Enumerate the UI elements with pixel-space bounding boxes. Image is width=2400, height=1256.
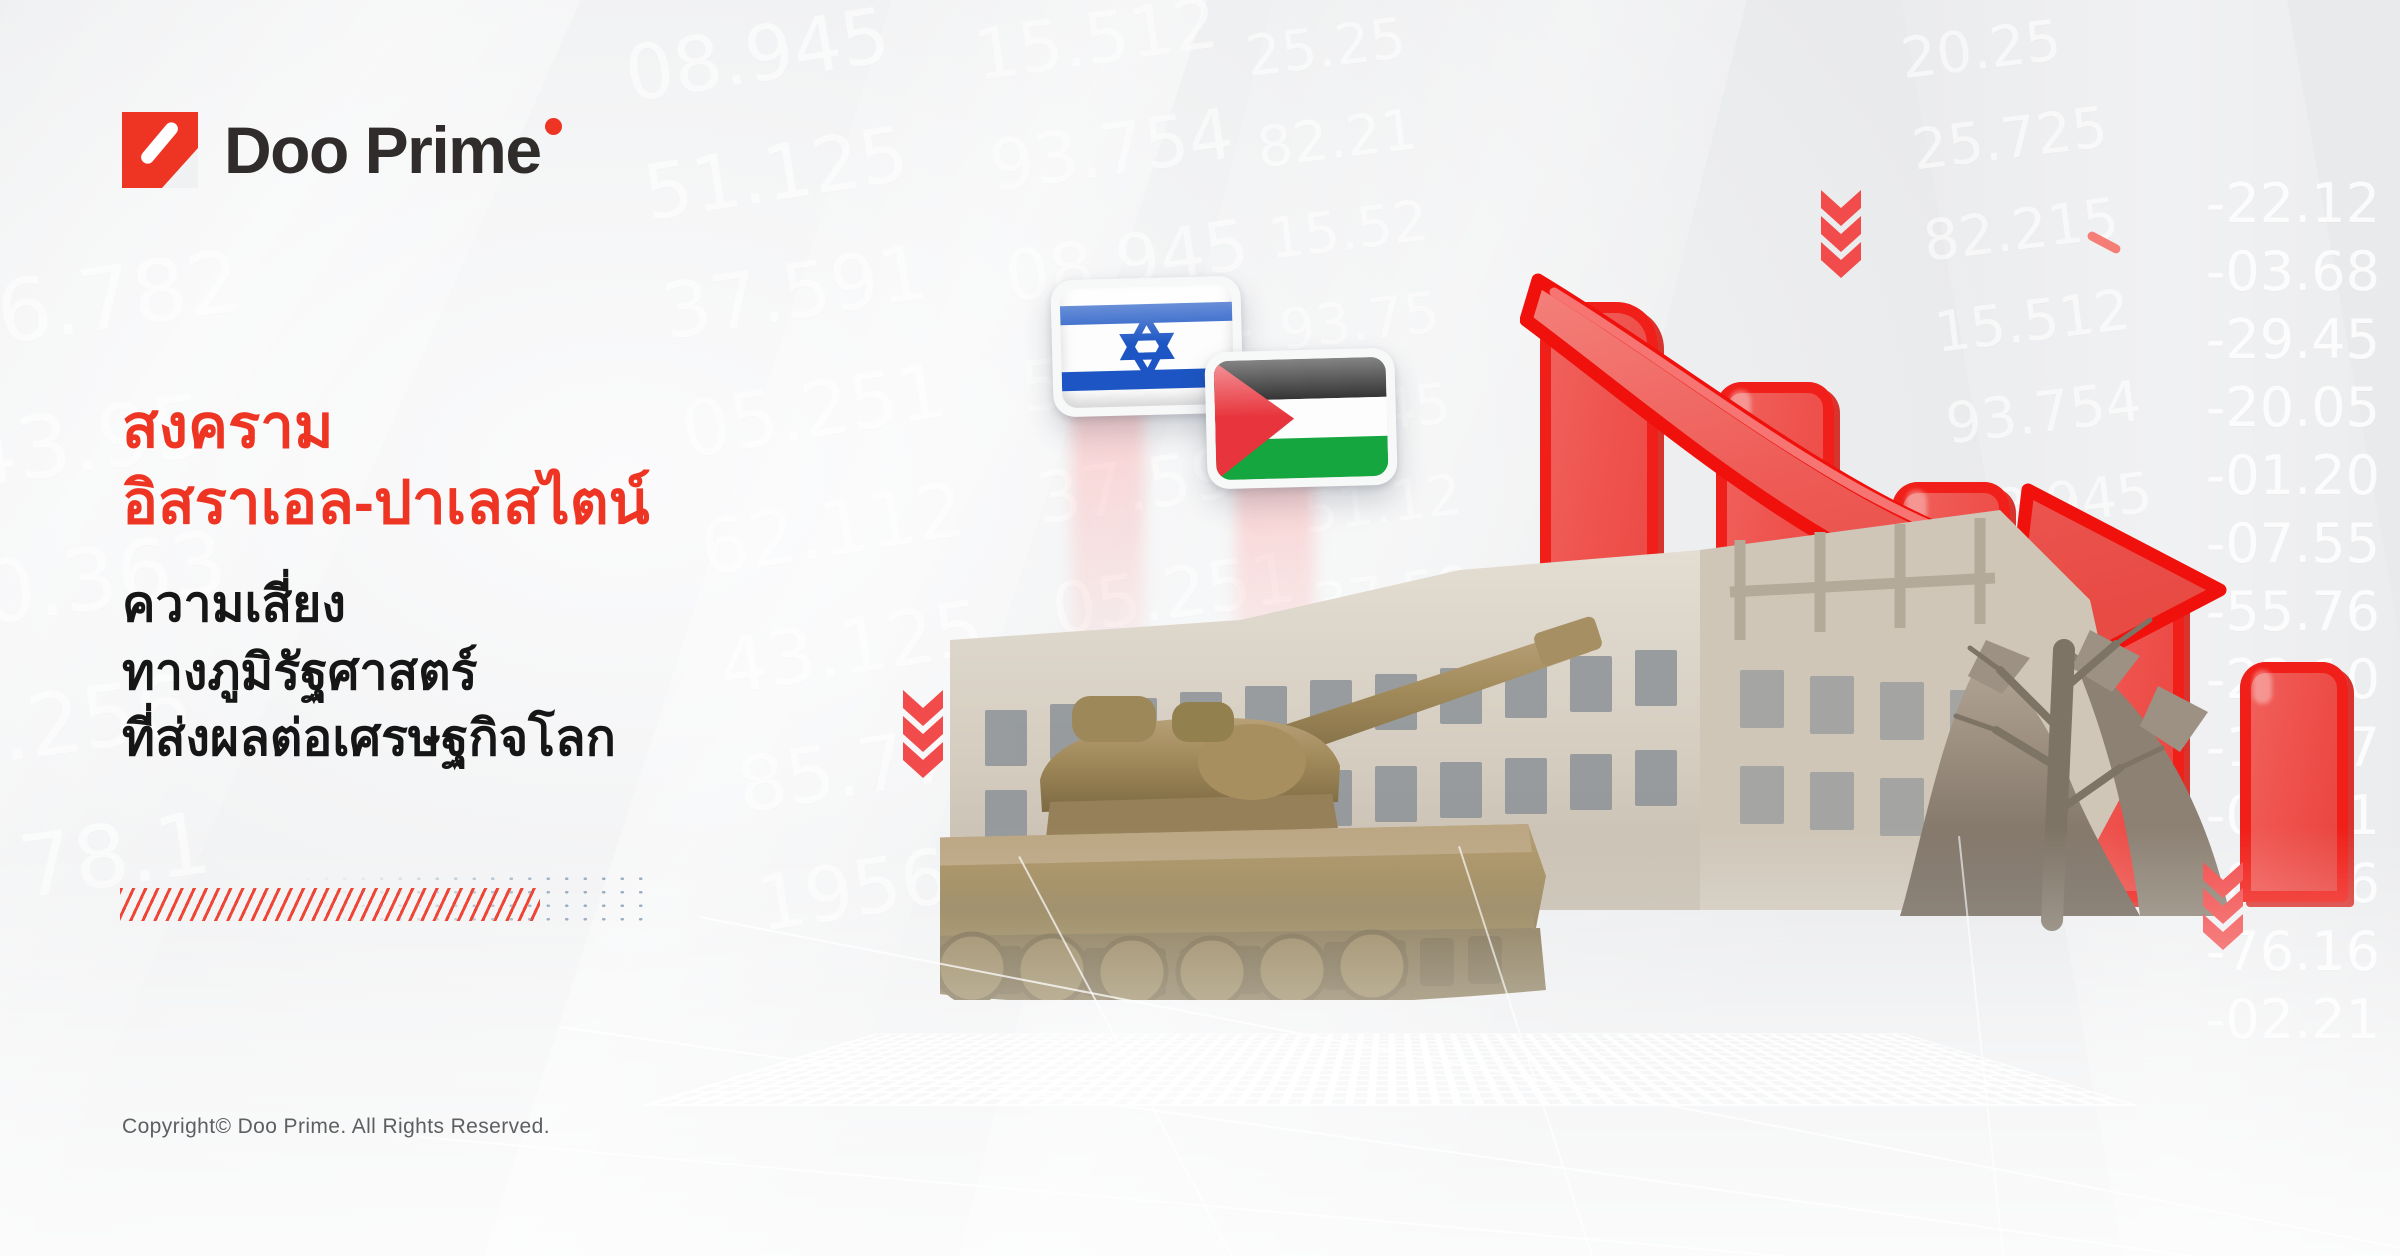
banner-canvas: 56.78243.950.363.25678.1 08.94551.12537.… — [0, 0, 2400, 1256]
decorative-divider — [120, 862, 650, 928]
logo-i-dot — [545, 118, 562, 135]
headline-line-1: สงคราม — [122, 392, 334, 463]
headline-line-2: อิสราเอล-ปาเลสไตน์ — [122, 468, 650, 539]
content-layer: Doo Prime สงคราม อิสราเอล-ปาเลสไตน์ ความ… — [0, 0, 2400, 1256]
brand-name: Doo Prime — [224, 117, 541, 183]
doo-prime-logomark-icon — [122, 112, 198, 188]
headline-line-4: ทางภูมิรัฐศาสตร์ — [122, 640, 477, 705]
headline-line-3: ความเสี่ยง — [122, 572, 346, 637]
dot-grid-accent — [280, 872, 650, 922]
copyright-text: Copyright© Doo Prime. All Rights Reserve… — [122, 1115, 550, 1139]
brand-logo[interactable]: Doo Prime — [122, 112, 541, 188]
headline-line-5: ที่ส่งผลต่อเศรษฐกิจโลก — [122, 706, 616, 771]
